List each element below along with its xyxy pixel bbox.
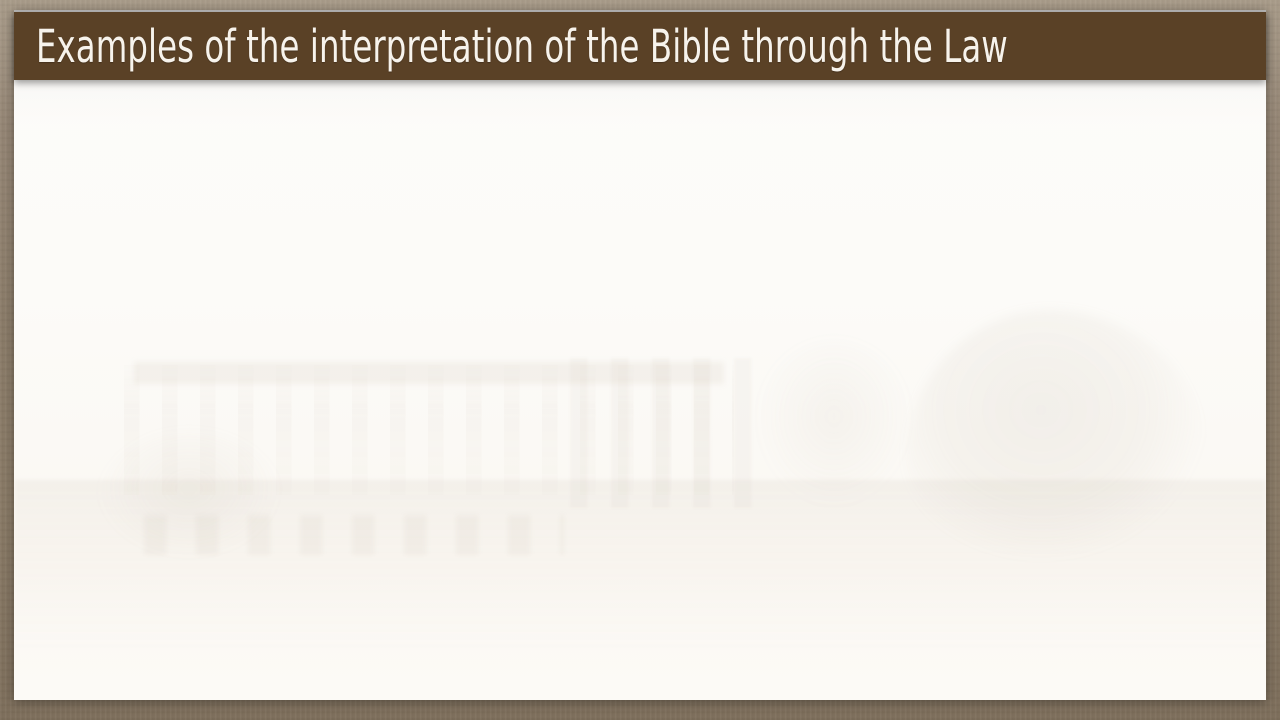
slide-outer-frame: Examples of the interpretation of the Bi… xyxy=(0,0,1280,720)
slide-title-banner: Examples of the interpretation of the Bi… xyxy=(14,12,1266,80)
slide-canvas xyxy=(14,10,1266,700)
slide-content-area xyxy=(14,90,1266,700)
slide-title: Examples of the interpretation of the Bi… xyxy=(36,24,1008,69)
